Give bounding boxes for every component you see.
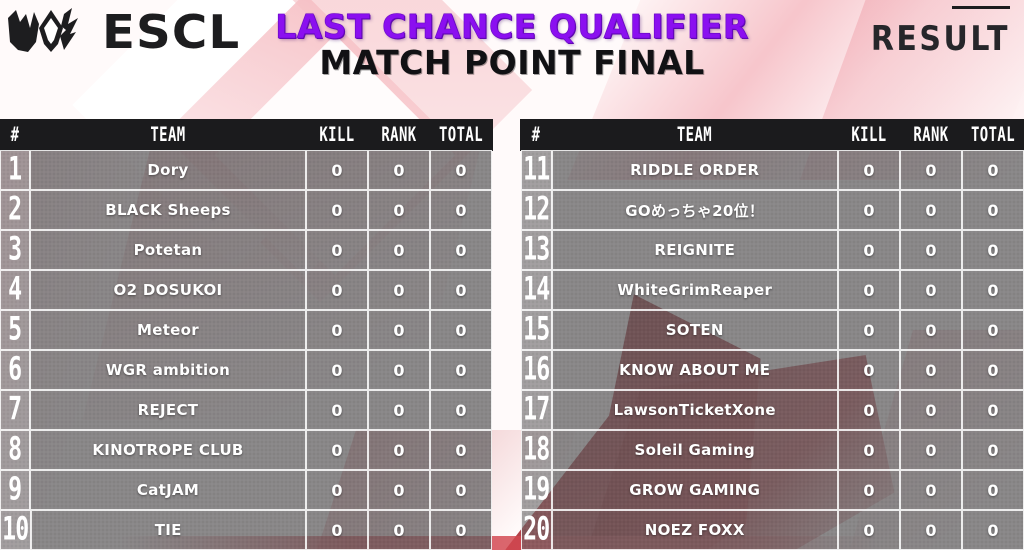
table-row: 12GOめっちゃ20位！000 xyxy=(521,190,1024,230)
row-rank-value: 0 xyxy=(368,150,430,190)
row-rank-number: 18 xyxy=(521,430,552,470)
row-total-value: 0 xyxy=(962,230,1024,270)
row-kill-value: 0 xyxy=(838,470,900,510)
row-kill-value: 0 xyxy=(306,230,368,270)
row-total-value: 0 xyxy=(962,190,1024,230)
row-kill-value: 0 xyxy=(306,310,368,350)
column-header-rankpts: RANK xyxy=(374,118,425,153)
row-total-value: 0 xyxy=(430,310,492,350)
row-total-value: 0 xyxy=(430,270,492,310)
row-rank-number: 9 xyxy=(0,470,30,510)
row-rank-number: 7 xyxy=(0,390,30,430)
standings-table-right: # TEAM KILL RANK TOTAL 11RIDDLE ORDER000… xyxy=(521,120,1024,550)
row-rank-value: 0 xyxy=(900,390,962,430)
row-team-name: REIGNITE xyxy=(552,230,838,270)
column-header-rank: # xyxy=(3,118,28,153)
row-rank-value: 0 xyxy=(900,350,962,390)
row-team-name: Soleil Gaming xyxy=(552,430,838,470)
table-row: 20NOEZ FOXX000 xyxy=(521,510,1024,550)
row-kill-value: 0 xyxy=(306,390,368,430)
table-row: 2BLACK Sheeps000 xyxy=(0,190,492,230)
row-total-value: 0 xyxy=(430,430,492,470)
row-rank-value: 0 xyxy=(368,390,430,430)
row-team-name: WGR ambition xyxy=(30,350,306,390)
row-rank-number: 4 xyxy=(0,270,30,310)
row-kill-value: 0 xyxy=(838,510,900,550)
row-team-name: LawsonTicketXone xyxy=(552,390,838,430)
row-team-name: RIDDLE ORDER xyxy=(552,150,838,190)
row-team-name: KINOTROPE CLUB xyxy=(30,430,306,470)
column-header-kill: KILL xyxy=(312,118,363,153)
result-label-block: RESULT xyxy=(871,6,1010,57)
row-rank-value: 0 xyxy=(900,190,962,230)
column-header-total: TOTAL xyxy=(968,118,1019,153)
row-kill-value: 0 xyxy=(838,150,900,190)
row-kill-value: 0 xyxy=(306,510,368,550)
row-rank-number: 20 xyxy=(521,510,552,550)
row-rank-value: 0 xyxy=(368,270,430,310)
row-rank-number: 3 xyxy=(0,230,30,270)
row-rank-number: 11 xyxy=(521,150,552,190)
table-row: 5Meteor000 xyxy=(0,310,492,350)
row-kill-value: 0 xyxy=(306,430,368,470)
standings-table-left: # TEAM KILL RANK TOTAL 1Dory0002BLACK Sh… xyxy=(0,120,492,550)
row-rank-number: 17 xyxy=(521,390,552,430)
header-bar: ESCL LAST CHANCE QUALIFIER MATCH POINT F… xyxy=(0,0,1024,118)
row-kill-value: 0 xyxy=(306,270,368,310)
row-rank-value: 0 xyxy=(900,150,962,190)
row-kill-value: 0 xyxy=(838,230,900,270)
row-kill-value: 0 xyxy=(306,190,368,230)
row-total-value: 0 xyxy=(962,350,1024,390)
row-rank-number: 10 xyxy=(0,510,31,550)
row-rank-number: 16 xyxy=(521,350,552,390)
table-row: 17LawsonTicketXone000 xyxy=(521,390,1024,430)
result-label: RESULT xyxy=(871,20,1010,59)
row-team-name: TIE xyxy=(31,510,306,550)
row-team-name: CatJAM xyxy=(30,470,306,510)
row-rank-value: 0 xyxy=(900,470,962,510)
row-team-name: WhiteGrimReaper xyxy=(552,270,838,310)
table-row: 16KNOW ABOUT ME000 xyxy=(521,350,1024,390)
column-header-team: TEAM xyxy=(577,118,812,153)
table-row: 6WGR ambition000 xyxy=(0,350,492,390)
row-total-value: 0 xyxy=(962,310,1024,350)
row-rank-number: 12 xyxy=(521,190,552,230)
column-header-rank: # xyxy=(524,118,549,153)
row-rank-number: 1 xyxy=(0,150,30,190)
row-rank-value: 0 xyxy=(900,310,962,350)
row-total-value: 0 xyxy=(962,510,1024,550)
column-header-total: TOTAL xyxy=(436,118,487,153)
row-total-value: 0 xyxy=(430,470,492,510)
row-team-name: GROW GAMING xyxy=(552,470,838,510)
row-rank-value: 0 xyxy=(368,470,430,510)
row-kill-value: 0 xyxy=(306,350,368,390)
table-row: 3Potetan000 xyxy=(0,230,492,270)
row-total-value: 0 xyxy=(962,430,1024,470)
row-kill-value: 0 xyxy=(306,470,368,510)
row-rank-value: 0 xyxy=(900,510,962,550)
column-header-rankpts: RANK xyxy=(906,118,957,153)
row-rank-value: 0 xyxy=(900,430,962,470)
row-team-name: REJECT xyxy=(30,390,306,430)
row-kill-value: 0 xyxy=(838,190,900,230)
table-row: 15SOTEN000 xyxy=(521,310,1024,350)
row-total-value: 0 xyxy=(430,510,492,550)
row-total-value: 0 xyxy=(962,470,1024,510)
table-row: 1Dory000 xyxy=(0,150,492,190)
row-rank-value: 0 xyxy=(368,430,430,470)
row-team-name: SOTEN xyxy=(552,310,838,350)
row-rank-value: 0 xyxy=(368,350,430,390)
table-row: 4O2 DOSUKOI000 xyxy=(0,270,492,310)
row-kill-value: 0 xyxy=(838,270,900,310)
row-rank-number: 19 xyxy=(521,470,552,510)
row-rank-number: 6 xyxy=(0,350,30,390)
row-total-value: 0 xyxy=(430,390,492,430)
row-total-value: 0 xyxy=(962,150,1024,190)
row-team-name: Potetan xyxy=(30,230,306,270)
row-rank-number: 2 xyxy=(0,190,30,230)
row-rank-value: 0 xyxy=(368,190,430,230)
row-total-value: 0 xyxy=(430,150,492,190)
table-header-row-left: # TEAM KILL RANK TOTAL xyxy=(0,120,492,150)
row-team-name: O2 DOSUKOI xyxy=(30,270,306,310)
row-team-name: BLACK Sheeps xyxy=(30,190,306,230)
row-rank-number: 13 xyxy=(521,230,552,270)
row-rank-number: 8 xyxy=(0,430,30,470)
row-rank-value: 0 xyxy=(368,310,430,350)
row-total-value: 0 xyxy=(430,190,492,230)
row-kill-value: 0 xyxy=(838,350,900,390)
column-header-team: TEAM xyxy=(55,118,281,153)
table-body-left: 1Dory0002BLACK Sheeps0003Potetan0004O2 D… xyxy=(0,150,492,550)
row-team-name: Dory xyxy=(30,150,306,190)
table-row: 11RIDDLE ORDER000 xyxy=(521,150,1024,190)
table-row: 8KINOTROPE CLUB000 xyxy=(0,430,492,470)
table-row: 9CatJAM000 xyxy=(0,470,492,510)
table-row: 7REJECT000 xyxy=(0,390,492,430)
table-row: 18Soleil Gaming000 xyxy=(521,430,1024,470)
row-total-value: 0 xyxy=(962,390,1024,430)
table-row: 14WhiteGrimReaper000 xyxy=(521,270,1024,310)
result-rule-line xyxy=(952,6,1010,9)
row-rank-value: 0 xyxy=(900,230,962,270)
row-rank-number: 15 xyxy=(521,310,552,350)
row-team-name: Meteor xyxy=(30,310,306,350)
row-kill-value: 0 xyxy=(838,390,900,430)
table-row: 10TIE000 xyxy=(0,510,492,550)
table-row: 19GROW GAMING000 xyxy=(521,470,1024,510)
table-row: 13REIGNITE000 xyxy=(521,230,1024,270)
column-header-kill: KILL xyxy=(844,118,895,153)
row-team-name: KNOW ABOUT ME xyxy=(552,350,838,390)
row-rank-number: 5 xyxy=(0,310,30,350)
table-body-right: 11RIDDLE ORDER00012GOめっちゃ20位！00013REIGNI… xyxy=(521,150,1024,550)
row-total-value: 0 xyxy=(430,230,492,270)
row-rank-value: 0 xyxy=(900,270,962,310)
row-team-name: GOめっちゃ20位！ xyxy=(552,190,838,230)
row-total-value: 0 xyxy=(962,270,1024,310)
row-kill-value: 0 xyxy=(838,310,900,350)
row-kill-value: 0 xyxy=(306,150,368,190)
row-team-name: NOEZ FOXX xyxy=(552,510,838,550)
row-rank-value: 0 xyxy=(368,510,430,550)
row-rank-number: 14 xyxy=(521,270,552,310)
table-header-row-right: # TEAM KILL RANK TOTAL xyxy=(521,120,1024,150)
row-rank-value: 0 xyxy=(368,230,430,270)
row-kill-value: 0 xyxy=(838,430,900,470)
row-total-value: 0 xyxy=(430,350,492,390)
